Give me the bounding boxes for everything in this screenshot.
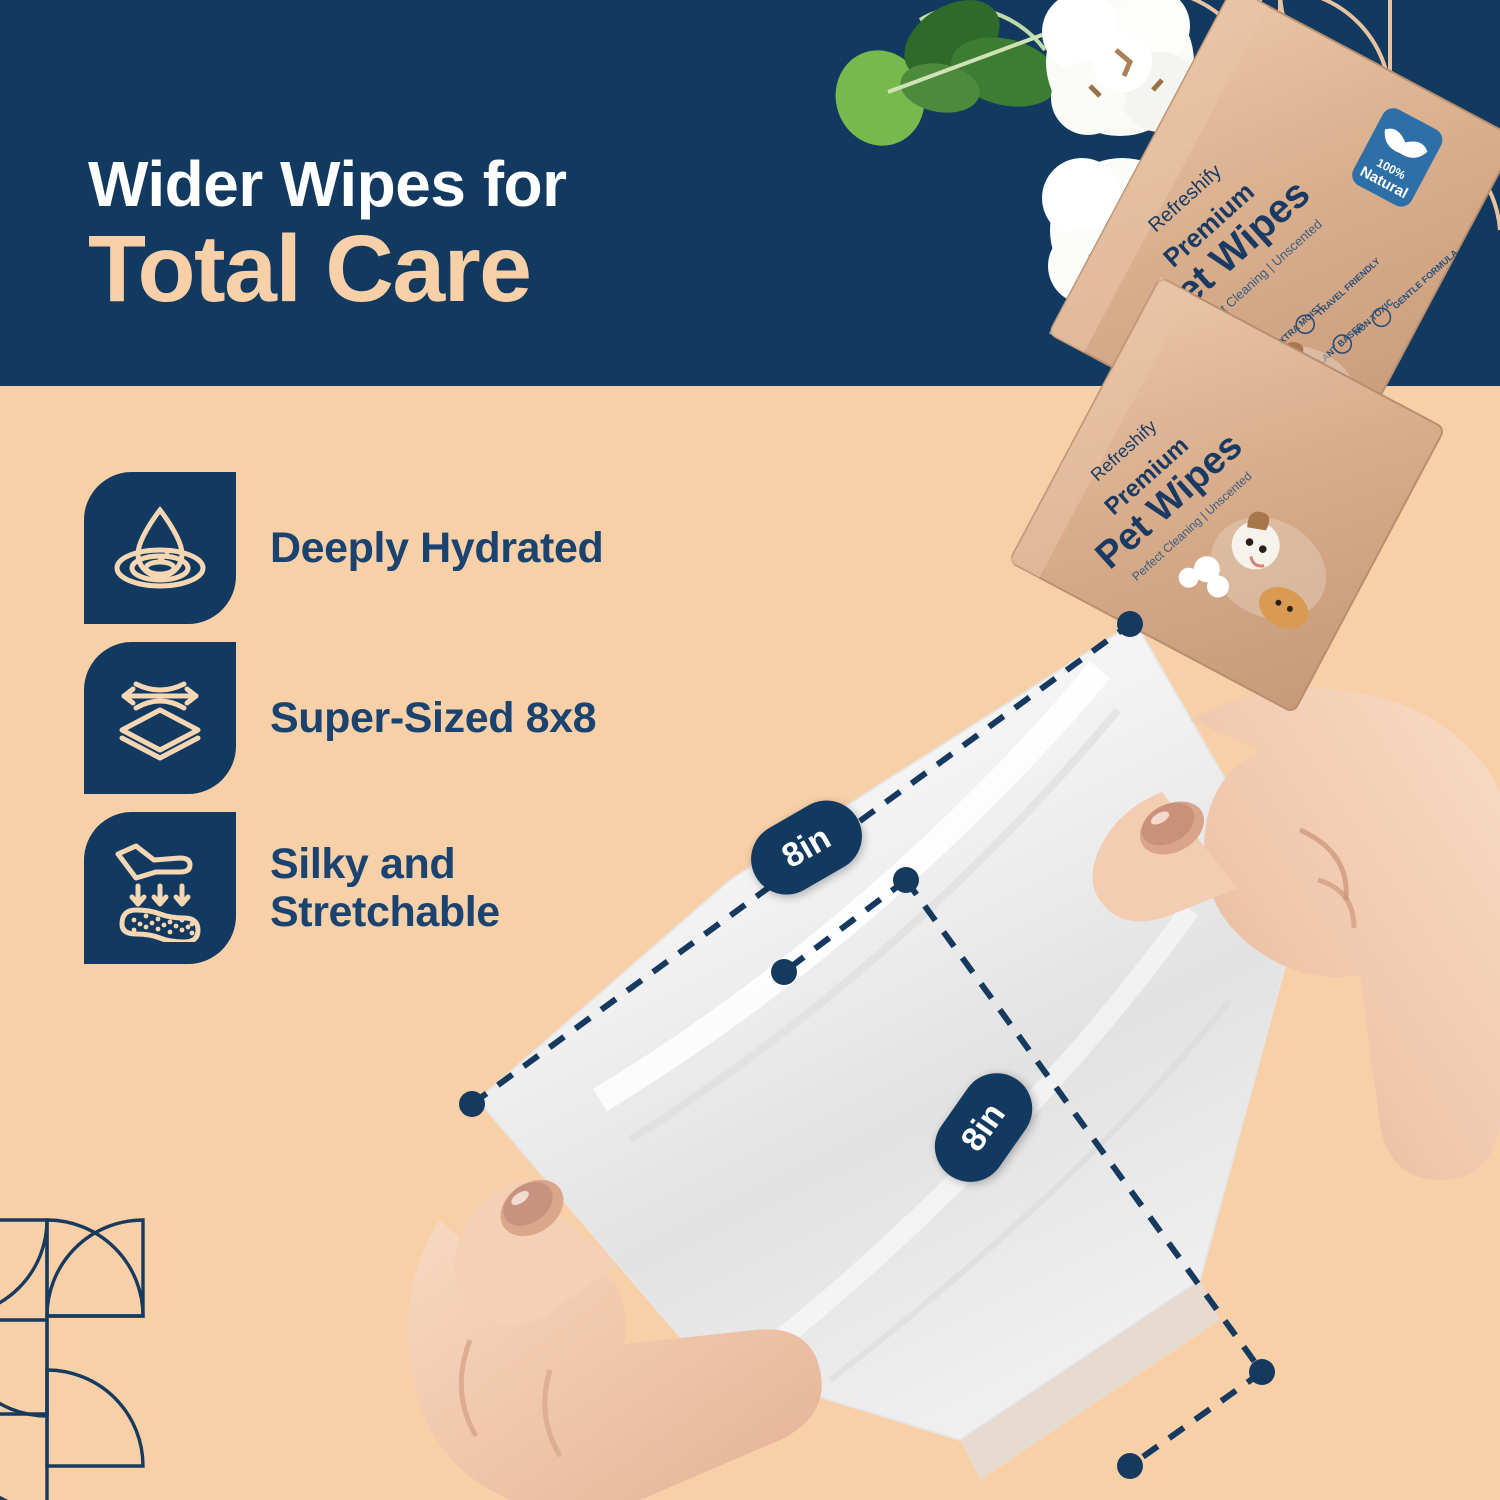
- feature-icon-tile: [84, 812, 236, 964]
- headline-line-1: Wider Wipes for: [88, 152, 868, 216]
- feature-list: Deeply Hydrated Super-Sized 8x8: [84, 472, 804, 982]
- hand-soft-press-icon: [106, 834, 214, 942]
- feature-label: Super-Sized 8x8: [270, 694, 596, 742]
- product-name-line1: Premium: [1099, 432, 1193, 521]
- headline-line-2: Total Care: [88, 222, 868, 317]
- brand-name: Refreshify: [1087, 416, 1161, 485]
- product-infographic: Wider Wipes for Total Care Deeply Hydrat…: [0, 0, 1500, 1500]
- feature-label: Silky and Stretchable: [270, 840, 500, 936]
- product-name-line2: Pet Wipes: [1088, 425, 1251, 578]
- stretch-layers-icon: [106, 664, 214, 772]
- cotton-boll-decor: [1010, 130, 1240, 340]
- feature-label: Deeply Hydrated: [270, 524, 603, 572]
- feature-item-silky-stretchable: Silky and Stretchable: [84, 812, 804, 964]
- product-subtitle: Perfect Cleaning | Unscented: [1129, 469, 1254, 584]
- feature-icon-tile: [84, 642, 236, 794]
- dimension-badge-height: 8in: [921, 1059, 1046, 1196]
- water-drop-ripple-icon: [106, 494, 214, 602]
- header-band: Wider Wipes for Total Care: [0, 0, 1500, 386]
- feature-icon-tile: [84, 472, 236, 624]
- feature-item-super-sized: Super-Sized 8x8: [84, 642, 804, 794]
- bottom-left-leaf-pattern: [0, 1170, 212, 1500]
- feature-item-deeply-hydrated: Deeply Hydrated: [84, 472, 804, 624]
- page-title: Wider Wipes for Total Care: [88, 152, 868, 317]
